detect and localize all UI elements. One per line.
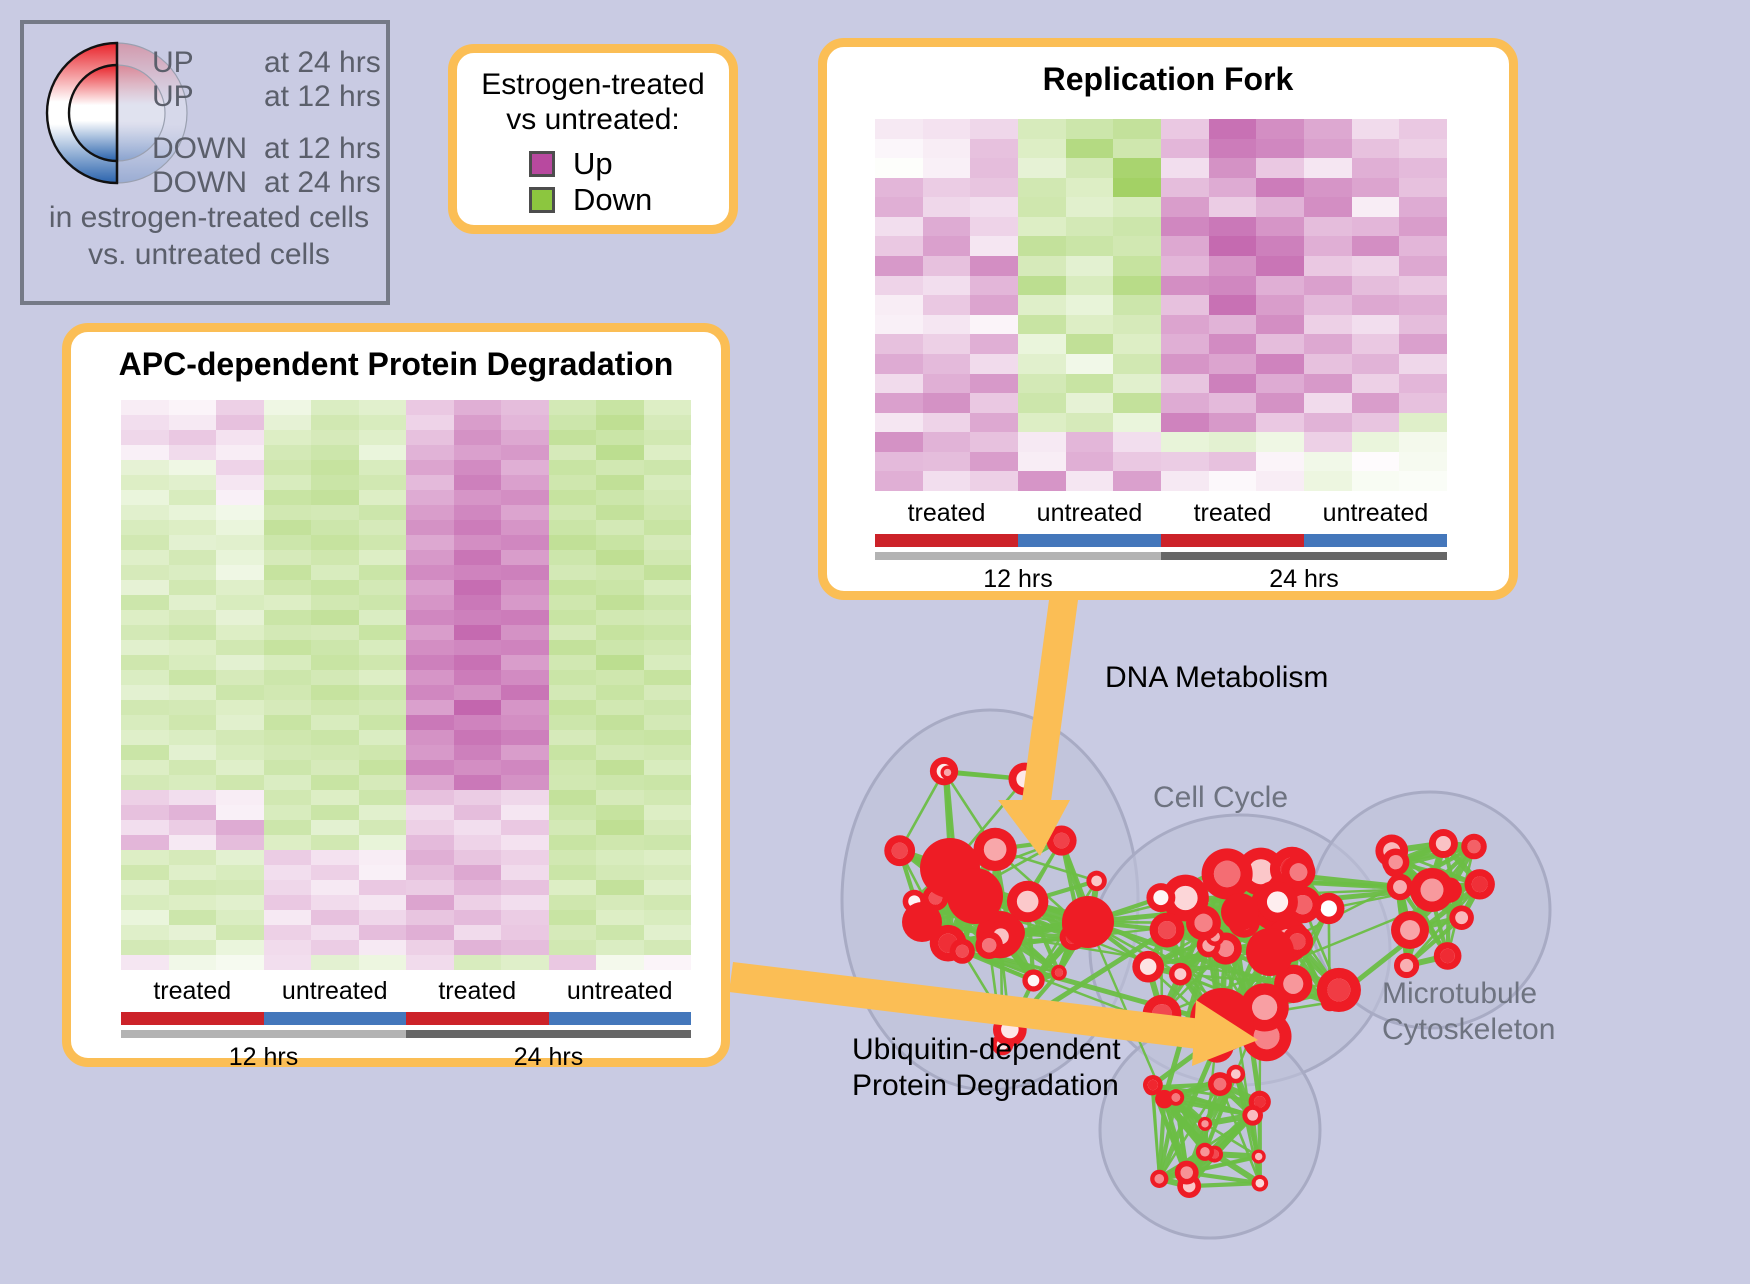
heatmap-cell	[549, 580, 597, 595]
heatmap-cell	[1352, 432, 1400, 452]
heatmap-cell	[406, 715, 454, 730]
heatmap-cell	[596, 925, 644, 940]
heatmap-cell	[1304, 334, 1352, 354]
heatmap-cell	[1352, 119, 1400, 139]
heatmap-cell	[121, 790, 169, 805]
heatmap-cell	[406, 520, 454, 535]
heatmap-cell	[169, 580, 217, 595]
heatmap-cell	[549, 895, 597, 910]
network-node[interactable]	[1246, 928, 1294, 976]
heatmap-cell	[1399, 158, 1447, 178]
heatmap-cell	[1113, 393, 1161, 413]
heatmap-cell	[454, 955, 502, 970]
heatmap-cell	[970, 452, 1018, 472]
heatmap-cell	[169, 430, 217, 445]
heatmap-cell	[359, 820, 407, 835]
heatmap-cell	[121, 610, 169, 625]
heatmap-cell	[501, 835, 549, 850]
heatmap-cell	[359, 745, 407, 760]
heatmap-cell	[644, 655, 692, 670]
heatmap-cell	[549, 595, 597, 610]
heatmap-cell	[454, 700, 502, 715]
heatmap-cell	[121, 805, 169, 820]
network-node-core	[1283, 974, 1303, 994]
heatmap-cell	[169, 625, 217, 640]
heatmap-cell	[596, 820, 644, 835]
heatmap-cell	[596, 775, 644, 790]
heatmap-cell	[264, 685, 312, 700]
estrogen-color-key: Estrogen-treated vs untreated: Up Down	[448, 44, 738, 234]
heatmap-cell	[1018, 295, 1066, 315]
heatmap-cell	[501, 595, 549, 610]
heatmap-cell	[121, 595, 169, 610]
network-node-core	[1152, 1004, 1172, 1024]
heatmap-cell	[1352, 295, 1400, 315]
heatmap-cell	[923, 119, 971, 139]
heatmap-cell	[1256, 334, 1304, 354]
heatmap-cell	[264, 535, 312, 550]
heatmap-cell	[121, 535, 169, 550]
heatmap-cell	[311, 700, 359, 715]
heatmap-cell	[1113, 276, 1161, 296]
heatmap-cell	[501, 565, 549, 580]
heatmap-cell	[501, 430, 549, 445]
heatmap-cell	[1256, 217, 1304, 237]
heatmap-cell	[501, 880, 549, 895]
heatmap-cell	[501, 775, 549, 790]
heatmap-cell	[1256, 119, 1304, 139]
heatmap-cell	[549, 445, 597, 460]
heatmap-cell	[1209, 432, 1257, 452]
heatmap-cell	[501, 490, 549, 505]
network-node-core	[1017, 891, 1039, 913]
heatmap-cell	[311, 640, 359, 655]
heatmap-cell	[406, 745, 454, 760]
network-node-core	[1290, 863, 1308, 881]
heatmap-cell	[644, 835, 692, 850]
heatmap-cell	[596, 910, 644, 925]
heatmap-cell	[596, 670, 644, 685]
heatmap-cell	[875, 471, 923, 491]
heatmap-cell	[406, 415, 454, 430]
heatmap-cell	[1066, 139, 1114, 159]
heatmap-cell	[501, 745, 549, 760]
heatmap-cell	[1352, 315, 1400, 335]
group-label: treated	[875, 499, 1018, 531]
heatmap-cell	[264, 655, 312, 670]
heatmap-cell	[359, 415, 407, 430]
heatmap-cell	[406, 790, 454, 805]
heatmap-cell	[1209, 471, 1257, 491]
heatmap-cell	[1256, 295, 1304, 315]
heatmap-cell	[1113, 217, 1161, 237]
heatmap-cell	[875, 432, 923, 452]
network-node-core	[1389, 855, 1403, 869]
heatmap-cell	[875, 139, 923, 159]
heatmap-cell	[596, 445, 644, 460]
heatmap-cell	[359, 640, 407, 655]
heatmap-cell	[359, 775, 407, 790]
heatmap-cell	[501, 700, 549, 715]
heatmap-cell	[311, 715, 359, 730]
key-item-label: Down	[573, 184, 652, 215]
heatmap-cell	[1304, 119, 1352, 139]
heatmap-cell	[406, 835, 454, 850]
heatmap-cell	[311, 835, 359, 850]
heatmap-cell	[216, 505, 264, 520]
heatmap-cell	[406, 925, 454, 940]
heatmap-cell	[644, 880, 692, 895]
heatmap-cell	[454, 820, 502, 835]
heatmap-cell	[311, 910, 359, 925]
apc-degradation-panel: APC-dependent Protein Degradation treate…	[62, 323, 730, 1067]
heatmap-cell	[454, 625, 502, 640]
heatmap-cell	[1161, 354, 1209, 374]
heatmap-cell	[264, 700, 312, 715]
heatmap-cell	[169, 820, 217, 835]
heatmap-cell	[875, 374, 923, 394]
network-node[interactable]	[902, 902, 942, 942]
heatmap-cell	[501, 850, 549, 865]
heatmap-cell	[1066, 217, 1114, 237]
heatmap-cell	[1018, 413, 1066, 433]
heatmap-cell	[1209, 256, 1257, 276]
heatmap-cell	[1113, 236, 1161, 256]
network-node-core	[1267, 891, 1288, 912]
heatmap-cell	[1209, 217, 1257, 237]
heatmap-cell	[311, 760, 359, 775]
time-bar-segment	[875, 552, 1161, 560]
heatmap-cell	[970, 334, 1018, 354]
heatmap-cell	[549, 925, 597, 940]
heatmap-grid	[121, 400, 691, 970]
heatmap-cell	[1304, 432, 1352, 452]
heatmap-cell	[264, 505, 312, 520]
network-node-core	[1472, 876, 1488, 892]
heatmap-cell	[1209, 413, 1257, 433]
heatmap-cell	[216, 535, 264, 550]
heatmap-cell	[501, 820, 549, 835]
heatmap-cell	[406, 550, 454, 565]
heatmap-cell	[1209, 119, 1257, 139]
heatmap-cell	[875, 217, 923, 237]
heatmap-cell	[596, 490, 644, 505]
estrogen-key-items: Up Down	[457, 146, 729, 218]
treatment-bar-segment	[1018, 534, 1161, 547]
heatmap-cell	[1113, 471, 1161, 491]
heatmap-cell	[644, 760, 692, 775]
heatmap-cell	[264, 595, 312, 610]
heatmap-cell	[596, 475, 644, 490]
heatmap-cell	[1161, 178, 1209, 198]
heatmap-cell	[359, 655, 407, 670]
heatmap-cell	[596, 685, 644, 700]
heatmap-cell	[406, 880, 454, 895]
heatmap-cell	[216, 475, 264, 490]
heatmap-cell	[970, 139, 1018, 159]
heatmap-cell	[549, 460, 597, 475]
heatmap-cell	[644, 400, 692, 415]
heatmap-cell	[121, 625, 169, 640]
heatmap-cell	[311, 790, 359, 805]
heatmap-cell	[1113, 178, 1161, 198]
network-node-core	[1201, 1120, 1208, 1127]
heatmap-cell	[169, 595, 217, 610]
heatmap-cell	[1352, 452, 1400, 472]
heatmap-cell	[549, 610, 597, 625]
heatmap-cell	[549, 820, 597, 835]
heatmap-cell	[169, 790, 217, 805]
heatmap-cell	[264, 430, 312, 445]
heatmap-cell	[644, 865, 692, 880]
heatmap-cell	[311, 625, 359, 640]
heatmap-cell	[454, 490, 502, 505]
heatmap-cell	[311, 685, 359, 700]
heatmap-cell	[1066, 432, 1114, 452]
heatmap-cell	[1304, 158, 1352, 178]
heatmap-cell	[1209, 197, 1257, 217]
legend-direction: DOWN	[152, 166, 264, 200]
heatmap-cell	[454, 910, 502, 925]
heatmap-cell	[406, 865, 454, 880]
heatmap-cell	[549, 670, 597, 685]
heatmap-cell	[359, 505, 407, 520]
heatmap-cell	[121, 880, 169, 895]
network-node-core	[1055, 969, 1063, 977]
heatmap-cell	[311, 415, 359, 430]
heatmap-cell	[216, 400, 264, 415]
heatmap-cell	[875, 354, 923, 374]
heatmap-cell	[121, 955, 169, 970]
heatmap-cell	[216, 790, 264, 805]
heatmap-cell	[264, 715, 312, 730]
heatmap-cell	[406, 820, 454, 835]
heatmap-cell	[264, 565, 312, 580]
heatmap-cell	[406, 580, 454, 595]
heatmap-cell	[923, 393, 971, 413]
heatmap-cell	[359, 715, 407, 730]
heatmap-cell	[216, 700, 264, 715]
legend-caption: in estrogen-treated cells vs. untreated …	[24, 200, 394, 273]
cluster-label-dna-metabolism: DNA Metabolism	[1105, 660, 1328, 696]
heatmap-cell	[970, 315, 1018, 335]
heatmap-cell	[596, 940, 644, 955]
heatmap-cell	[311, 445, 359, 460]
heatmap-cell	[501, 925, 549, 940]
heatmap-cell	[359, 910, 407, 925]
heatmap-cell	[549, 940, 597, 955]
heatmap-cell	[311, 820, 359, 835]
heatmap-cell	[1399, 471, 1447, 491]
estrogen-key-title-line2: vs untreated:	[457, 102, 729, 137]
heatmap-cell	[596, 610, 644, 625]
heatmap-cell	[1399, 374, 1447, 394]
heatmap-cell	[1018, 354, 1066, 374]
heatmap-cell	[644, 460, 692, 475]
heatmap-cell	[501, 550, 549, 565]
network-node[interactable]	[947, 868, 1003, 924]
heatmap-cell	[406, 730, 454, 745]
heatmap-cell	[454, 430, 502, 445]
network-node-core	[1200, 1147, 1209, 1156]
heatmap-cell	[1304, 374, 1352, 394]
legend-time: at 12 hrs	[264, 80, 381, 114]
heatmap-cell	[454, 835, 502, 850]
heatmap-cell	[1256, 276, 1304, 296]
heatmap-cell	[1113, 315, 1161, 335]
heatmap-cell	[501, 655, 549, 670]
heatmap-cell	[596, 760, 644, 775]
heatmap-cell	[311, 565, 359, 580]
heatmap-cell	[644, 895, 692, 910]
heatmap-cell	[454, 790, 502, 805]
heatmap-cell	[121, 700, 169, 715]
heatmap-cell	[264, 925, 312, 940]
network-node[interactable]	[1062, 896, 1114, 948]
heatmap-cell	[1352, 139, 1400, 159]
heatmap-cell	[121, 850, 169, 865]
heatmap-cell	[359, 790, 407, 805]
heatmap-cell	[501, 505, 549, 520]
heatmap-cell	[644, 745, 692, 760]
heatmap-cell	[970, 354, 1018, 374]
heatmap-cell	[406, 610, 454, 625]
heatmap-cell	[644, 910, 692, 925]
heatmap-cell	[359, 700, 407, 715]
heatmap-cell	[549, 775, 597, 790]
up-color-swatch	[529, 151, 555, 177]
heatmap-cell	[644, 625, 692, 640]
heatmap-cell	[1209, 236, 1257, 256]
heatmap-cell	[923, 413, 971, 433]
heatmap-cell	[264, 760, 312, 775]
network-node-core	[1436, 836, 1451, 851]
heatmap-cell	[923, 256, 971, 276]
heatmap-cell	[1161, 432, 1209, 452]
heatmap-cell	[501, 415, 549, 430]
heatmap-cell	[169, 880, 217, 895]
heatmap-cell	[1066, 256, 1114, 276]
heatmap-cell	[216, 550, 264, 565]
heatmap-cell	[311, 895, 359, 910]
heatmap-grid	[875, 119, 1447, 491]
network-node-core	[1467, 840, 1480, 853]
heatmap-cell	[454, 760, 502, 775]
heatmap-cell	[311, 595, 359, 610]
heatmap-cell	[596, 700, 644, 715]
heatmap-cell	[1256, 197, 1304, 217]
heatmap-cell	[1161, 276, 1209, 296]
heatmap-cell	[875, 334, 923, 354]
heatmap-cell	[121, 820, 169, 835]
heatmap-cell	[1161, 315, 1209, 335]
heatmap-cell	[644, 820, 692, 835]
heatmap-cell	[169, 565, 217, 580]
heatmap-cell	[359, 595, 407, 610]
heatmap-cell	[169, 745, 217, 760]
heatmap-cell	[121, 415, 169, 430]
heatmap-cell	[169, 850, 217, 865]
network-node-core	[1400, 920, 1420, 940]
heatmap-cell	[406, 625, 454, 640]
heatmap-cell	[1066, 158, 1114, 178]
heatmap-cell	[216, 610, 264, 625]
treatment-bar-segment	[121, 1012, 264, 1025]
heatmap-cell	[501, 940, 549, 955]
heatmap-cell	[359, 445, 407, 460]
heatmap-cell	[311, 730, 359, 745]
heatmap-cell	[1209, 315, 1257, 335]
network-node-core	[1054, 833, 1070, 849]
heatmap-cell	[311, 520, 359, 535]
network-node-core	[1255, 1153, 1262, 1160]
heatmap-cell	[264, 805, 312, 820]
heatmap-cell	[264, 415, 312, 430]
network-node-core	[1231, 1069, 1241, 1079]
heatmap-cell	[1304, 393, 1352, 413]
network-node-core	[1174, 968, 1186, 980]
heatmap-cell	[970, 217, 1018, 237]
estrogen-key-title-line1: Estrogen-treated	[457, 67, 729, 102]
heatmap-cell	[1161, 374, 1209, 394]
heatmap-cell	[1256, 452, 1304, 472]
heatmap-cell	[923, 139, 971, 159]
heatmap-cell	[644, 955, 692, 970]
heatmap-cell	[454, 670, 502, 685]
heatmap-cell	[169, 475, 217, 490]
heatmap-cell	[1352, 471, 1400, 491]
heatmap-cell	[596, 790, 644, 805]
replication-fork-time-bar	[875, 552, 1447, 560]
heatmap-cell	[1161, 471, 1209, 491]
legend-caption-line1: in estrogen-treated cells	[24, 200, 394, 237]
heatmap-cell	[1256, 158, 1304, 178]
heatmap-cell	[121, 490, 169, 505]
heatmap-cell	[264, 475, 312, 490]
heatmap-cell	[1113, 452, 1161, 472]
time-label: 12 hrs	[121, 1043, 406, 1075]
heatmap-cell	[406, 700, 454, 715]
heatmap-cell	[1399, 139, 1447, 159]
heatmap-cell	[549, 640, 597, 655]
heatmap-cell	[549, 535, 597, 550]
heatmap-cell	[454, 745, 502, 760]
network-node-core	[1181, 1166, 1193, 1178]
heatmap-cell	[359, 625, 407, 640]
network-node[interactable]	[1221, 893, 1259, 931]
heatmap-cell	[169, 490, 217, 505]
group-label: untreated	[1018, 499, 1161, 531]
heatmap-cell	[454, 565, 502, 580]
heatmap-cell	[264, 895, 312, 910]
heatmap-cell	[454, 850, 502, 865]
heatmap-cell	[311, 580, 359, 595]
network-node[interactable]	[1190, 988, 1254, 1052]
heatmap-cell	[1399, 217, 1447, 237]
heatmap-cell	[970, 374, 1018, 394]
heatmap-cell	[1209, 158, 1257, 178]
treatment-bar-segment	[1161, 534, 1304, 547]
heatmap-cell	[216, 640, 264, 655]
heatmap-cell	[121, 640, 169, 655]
heatmap-cell	[1066, 354, 1114, 374]
heatmap-cell	[406, 805, 454, 820]
heatmap-cell	[1304, 452, 1352, 472]
heatmap-cell	[121, 460, 169, 475]
heatmap-cell	[596, 520, 644, 535]
heatmap-cell	[923, 158, 971, 178]
heatmap-cell	[644, 610, 692, 625]
